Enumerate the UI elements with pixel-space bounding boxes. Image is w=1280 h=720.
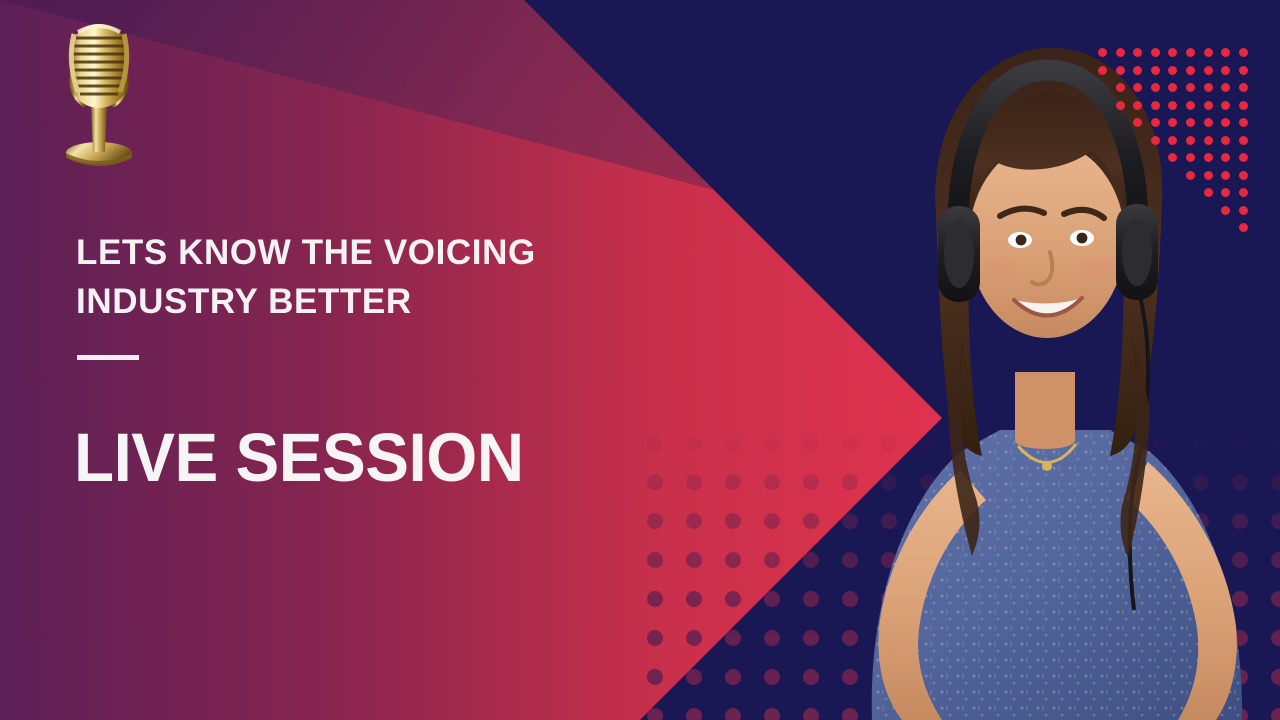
dot [1151, 83, 1160, 92]
dot-row [1098, 101, 1280, 119]
dot [1204, 83, 1213, 92]
dot-row [1098, 66, 1280, 84]
dot [1221, 101, 1230, 110]
page-title: LETS KNOW THE VOICING INDUSTRY BETTER [76, 228, 676, 326]
dot [1204, 171, 1213, 180]
dot [1186, 118, 1195, 127]
dot [1116, 66, 1125, 75]
triangular-dot-pattern-overlay-icon [1098, 48, 1280, 238]
dot [1221, 206, 1230, 215]
dot [1151, 101, 1160, 110]
dot [1133, 101, 1142, 110]
dot [1221, 83, 1230, 92]
dot [1168, 66, 1177, 75]
dot [1133, 48, 1142, 57]
dot [1186, 101, 1195, 110]
dot [1239, 83, 1248, 92]
dot [1168, 101, 1177, 110]
dot [1168, 136, 1177, 145]
dot [1151, 48, 1160, 57]
dot [1186, 48, 1195, 57]
dot [1221, 136, 1230, 145]
dot [1116, 101, 1125, 110]
dot-row [1098, 206, 1280, 224]
dot [1133, 66, 1142, 75]
dot [1221, 66, 1230, 75]
neck [1015, 372, 1075, 449]
dot [1168, 153, 1177, 162]
dot [1221, 153, 1230, 162]
dot [1204, 118, 1213, 127]
dot [1168, 83, 1177, 92]
dot [1098, 66, 1107, 75]
dot [1151, 66, 1160, 75]
dot [1204, 153, 1213, 162]
dot [1239, 48, 1248, 57]
copy-block: LETS KNOW THE VOICING INDUSTRY BETTER LI… [76, 0, 696, 720]
dot [1204, 66, 1213, 75]
dot [1239, 188, 1248, 197]
dot [1186, 136, 1195, 145]
kicker-label: LIVE SESSION [74, 420, 524, 496]
dot-row [1098, 83, 1280, 101]
live-session-banner: LETS KNOW THE VOICING INDUSTRY BETTER LI… [0, 0, 1280, 720]
dot-row [1098, 153, 1280, 171]
dot [1133, 83, 1142, 92]
dot [1116, 83, 1125, 92]
dot [1239, 153, 1248, 162]
dot [1239, 171, 1248, 180]
dot [1221, 118, 1230, 127]
dot-row [1098, 188, 1280, 206]
dot [1239, 118, 1248, 127]
dot [1204, 101, 1213, 110]
dot [1116, 48, 1125, 57]
dot [1239, 206, 1248, 215]
necklace-pendant [1042, 461, 1052, 471]
dot [1204, 136, 1213, 145]
dot [1239, 66, 1248, 75]
dot [1186, 83, 1195, 92]
dot [1239, 223, 1248, 232]
dot [1098, 48, 1107, 57]
dot [1221, 48, 1230, 57]
dot [1186, 171, 1195, 180]
title-divider [77, 355, 139, 360]
dot [1186, 153, 1195, 162]
dot [1151, 118, 1160, 127]
dot-row [1098, 118, 1280, 136]
dot [1133, 118, 1142, 127]
dot [1168, 118, 1177, 127]
dot-row [1098, 171, 1280, 189]
dot [1204, 188, 1213, 197]
dot [1204, 48, 1213, 57]
dot-row [1098, 136, 1280, 154]
dot [1168, 48, 1177, 57]
dot [1239, 101, 1248, 110]
dot-row [1098, 223, 1280, 241]
dot [1221, 188, 1230, 197]
dot-row [1098, 48, 1280, 66]
dot [1151, 136, 1160, 145]
dot [1221, 171, 1230, 180]
dot [1239, 136, 1248, 145]
dot [1186, 66, 1195, 75]
